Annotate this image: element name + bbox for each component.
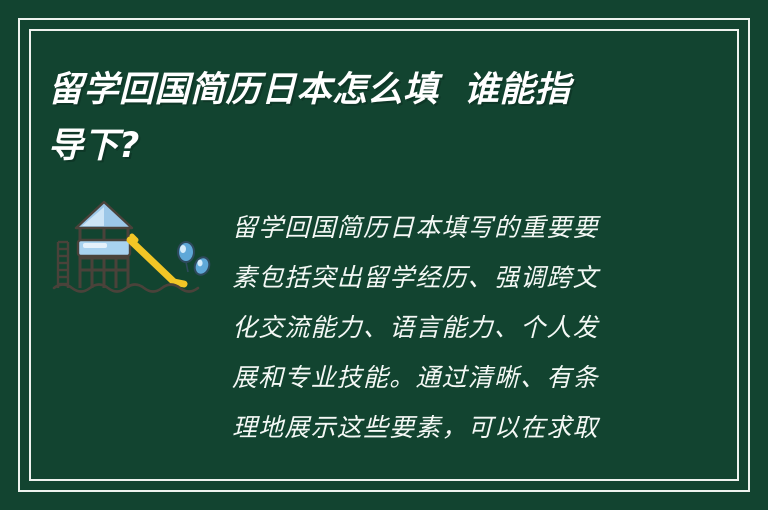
playground-slide-illustration bbox=[52, 196, 212, 296]
body-line-2: 素包括突出留学经历、强调跨文 bbox=[232, 253, 652, 303]
slide-icon bbox=[130, 236, 184, 284]
body-line-1: 留学回国简历日本填写的重要要 bbox=[232, 203, 652, 253]
droplet-icon-small bbox=[192, 255, 212, 277]
body-line-4: 展和专业技能。通过清晰、有条 bbox=[232, 353, 652, 403]
platform-panel bbox=[78, 240, 130, 256]
droplet-icon-large bbox=[178, 242, 194, 272]
page-title: 留学回国简历日本怎么填 谁能指 导下? bbox=[48, 62, 688, 174]
ground-line bbox=[54, 285, 198, 292]
body-line-3: 化交流能力、语言能力、个人发 bbox=[232, 303, 652, 353]
body-line-5: 理地展示这些要素，可以在求取 bbox=[232, 403, 652, 453]
body-paragraph: 留学回国简历日本填写的重要要 素包括突出留学经历、强调跨文 化交流能力、语言能力… bbox=[232, 203, 652, 453]
poster-canvas: 留学回国简历日本怎么填 谁能指 导下? bbox=[0, 0, 768, 510]
roof-icon bbox=[76, 202, 132, 228]
title-line-2: 导下? bbox=[48, 118, 688, 174]
ladder-icon bbox=[58, 242, 68, 288]
title-line-1: 留学回国简历日本怎么填 谁能指 bbox=[48, 62, 688, 118]
